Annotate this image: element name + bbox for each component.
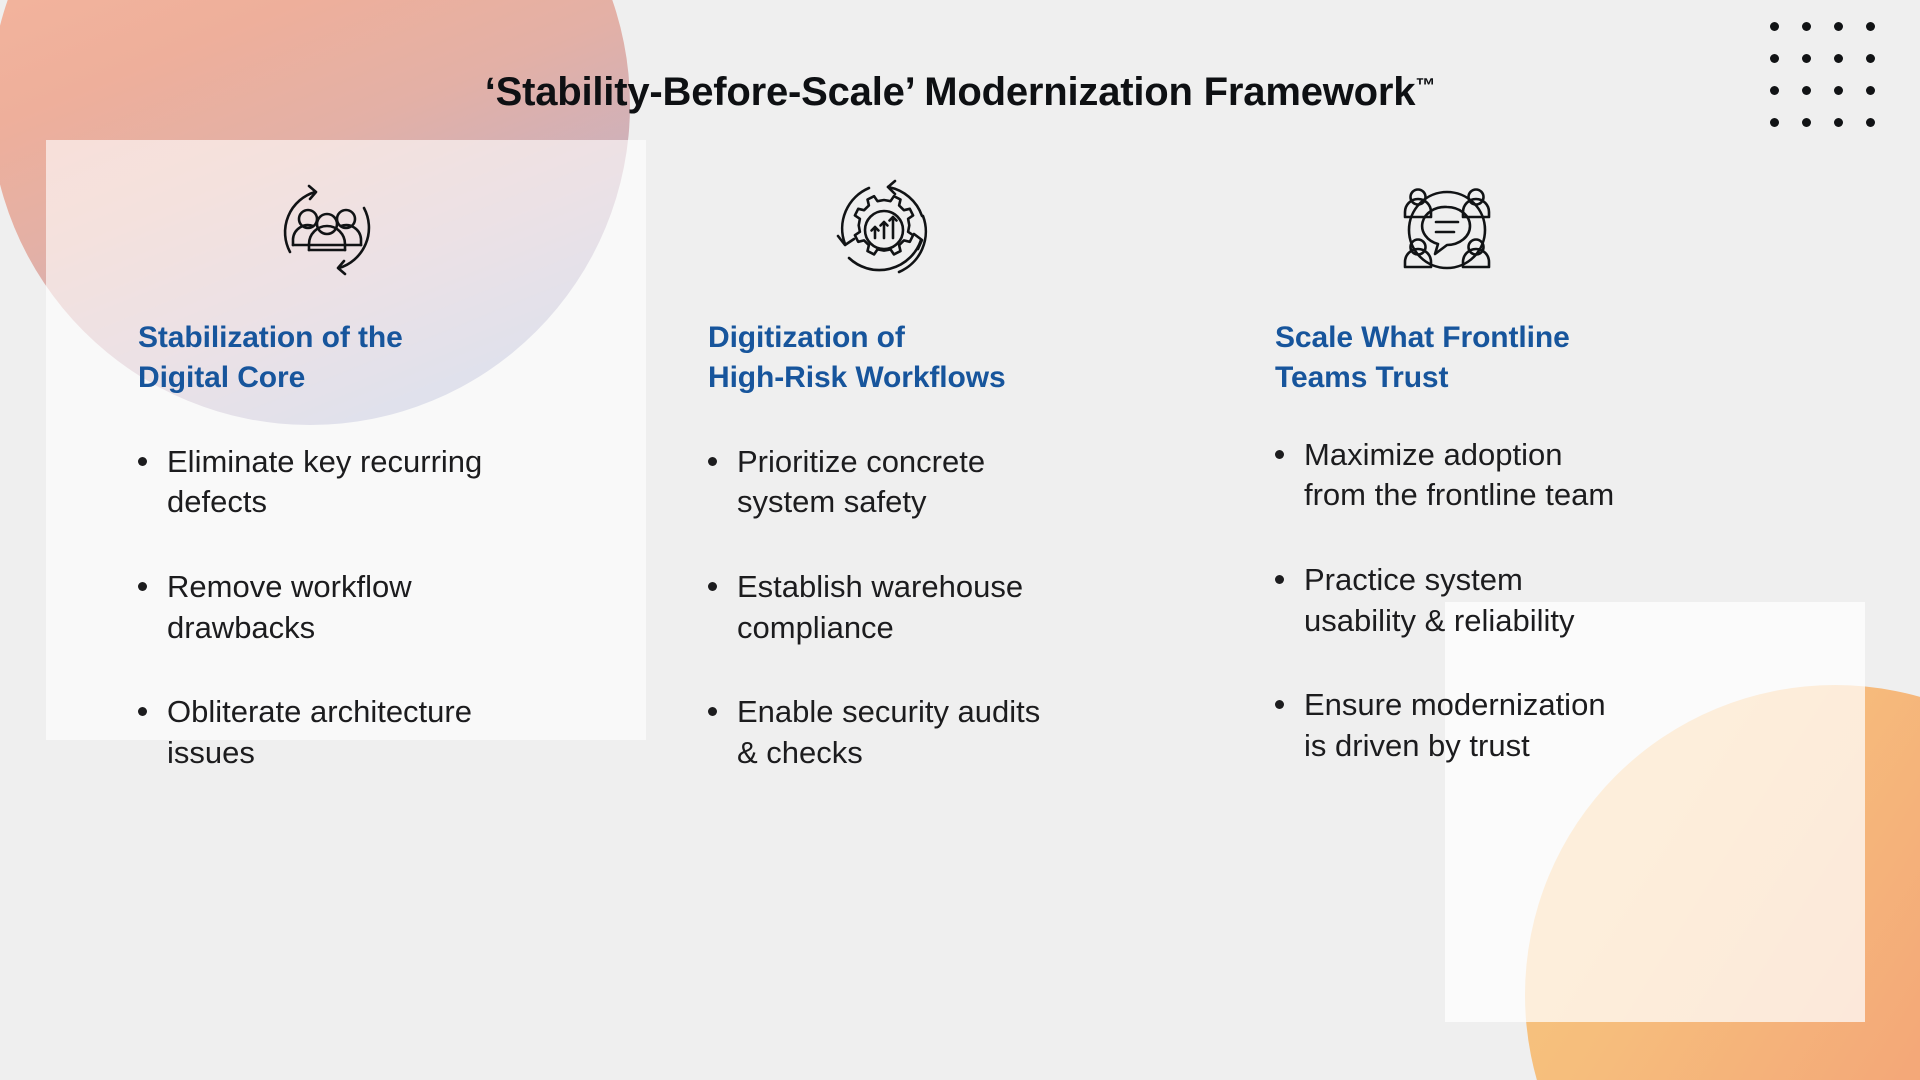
list-item: Eliminate key recurring defects (138, 442, 693, 523)
grid-dot (1834, 54, 1843, 63)
trademark-symbol: ™ (1415, 75, 1435, 97)
grid-dot (1770, 118, 1779, 127)
list-item-text: Eliminate key recurring defects (167, 442, 482, 523)
framework-column-1: Stabilization of the Digital Core Elimin… (120, 170, 693, 817)
grid-dot (1802, 118, 1811, 127)
list-item-text: Enable security audits & checks (737, 692, 1040, 773)
bullet-dot-icon (708, 457, 717, 466)
column-bullet-list: Prioritize concrete system safety Establ… (708, 442, 1266, 774)
list-item-text: Establish warehouse compliance (737, 567, 1023, 648)
list-item: Establish warehouse compliance (708, 567, 1266, 648)
bullet-dot-icon (138, 707, 147, 716)
framework-columns: Stabilization of the Digital Core Elimin… (120, 170, 1840, 817)
grid-dot (1834, 118, 1843, 127)
bullet-dot-icon (708, 582, 717, 591)
list-item-text: Remove workflow drawbacks (167, 567, 412, 648)
grid-dot (1802, 22, 1811, 31)
list-item: Remove workflow drawbacks (138, 567, 693, 648)
bullet-dot-icon (1275, 575, 1284, 584)
grid-dot (1866, 54, 1875, 63)
bullet-dot-icon (708, 707, 717, 716)
column-heading: Scale What Frontline Teams Trust (1275, 318, 1839, 398)
grid-dot (1866, 22, 1875, 31)
list-item-text: Practice system usability & reliability (1304, 560, 1575, 641)
grid-dot (1770, 22, 1779, 31)
bullet-dot-icon (138, 457, 147, 466)
bullet-dot-icon (1275, 450, 1284, 459)
list-item: Practice system usability & reliability (1275, 560, 1839, 641)
page-title-text: ‘Stability-Before-Scale’ Modernization F… (485, 70, 1416, 114)
list-item-text: Prioritize concrete system safety (737, 442, 985, 523)
people-cycle-icon (138, 170, 693, 290)
column-bullet-list: Maximize adoption from the frontline tea… (1275, 435, 1839, 767)
team-collaboration-chat-icon (1275, 170, 1839, 290)
column-heading: Digitization of High-Risk Workflows (708, 318, 1266, 398)
bullet-dot-icon (1275, 700, 1284, 709)
gear-growth-cycle-icon (708, 170, 1266, 290)
bullet-dot-icon (138, 582, 147, 591)
page-title: ‘Stability-Before-Scale’ Modernization F… (0, 70, 1920, 115)
grid-dot (1866, 118, 1875, 127)
framework-column-3: Scale What Frontline Teams Trust Maximiz… (1266, 170, 1839, 817)
list-item: Ensure modernization is driven by trust (1275, 685, 1839, 766)
grid-dot (1834, 22, 1843, 31)
grid-dot (1770, 54, 1779, 63)
column-heading: Stabilization of the Digital Core (138, 318, 693, 398)
column-bullet-list: Eliminate key recurring defects Remove w… (138, 442, 693, 774)
grid-dot (1802, 54, 1811, 63)
list-item-text: Ensure modernization is driven by trust (1304, 685, 1606, 766)
list-item: Maximize adoption from the frontline tea… (1275, 435, 1839, 516)
list-item-text: Maximize adoption from the frontline tea… (1304, 435, 1614, 516)
framework-column-2: Digitization of High-Risk Workflows Prio… (693, 170, 1266, 817)
list-item: Obliterate architecture issues (138, 692, 693, 773)
list-item-text: Obliterate architecture issues (167, 692, 472, 773)
list-item: Prioritize concrete system safety (708, 442, 1266, 523)
list-item: Enable security audits & checks (708, 692, 1266, 773)
